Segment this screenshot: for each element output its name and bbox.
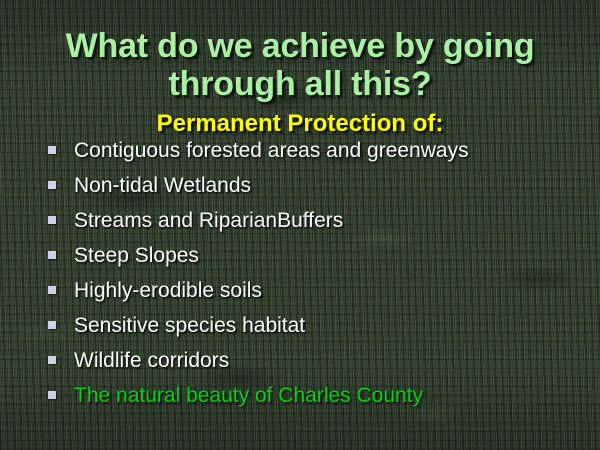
list-item: Streams and RiparianBuffers (0, 203, 600, 238)
bullet-list: Contiguous forested areas and greenways … (0, 133, 600, 413)
list-item: Sensitive species habitat (0, 308, 600, 343)
list-item: The natural beauty of Charles County (0, 378, 600, 413)
list-item-label: Wildlife corridors (74, 349, 229, 372)
square-bullet-icon (48, 216, 56, 224)
list-item-label: Sensitive species habitat (74, 314, 305, 337)
slide-title: What do we achieve by going through all … (0, 27, 600, 103)
square-bullet-icon (48, 286, 56, 294)
square-bullet-icon (48, 146, 56, 154)
list-item: Highly-erodible soils (0, 273, 600, 308)
list-item-label: The natural beauty of Charles County (74, 384, 423, 407)
list-item-label: Highly-erodible soils (74, 279, 262, 302)
slide-title-line-1: What do we achieve by going (0, 27, 600, 65)
square-bullet-icon (48, 321, 56, 329)
presentation-slide: What do we achieve by going through all … (0, 0, 600, 450)
list-item-label: Steep Slopes (74, 244, 199, 267)
list-item: Steep Slopes (0, 238, 600, 273)
list-item: Contiguous forested areas and greenways (0, 133, 600, 168)
list-item-label: Streams and RiparianBuffers (74, 209, 343, 232)
list-item: Wildlife corridors (0, 343, 600, 378)
square-bullet-icon (48, 181, 56, 189)
square-bullet-icon (48, 391, 56, 399)
square-bullet-icon (48, 251, 56, 259)
list-item-label: Contiguous forested areas and greenways (74, 139, 469, 162)
slide-title-line-2: through all this? (0, 65, 600, 103)
list-item-label: Non-tidal Wetlands (74, 174, 251, 197)
slide-content: What do we achieve by going through all … (0, 0, 600, 450)
square-bullet-icon (48, 356, 56, 364)
list-item: Non-tidal Wetlands (0, 168, 600, 203)
